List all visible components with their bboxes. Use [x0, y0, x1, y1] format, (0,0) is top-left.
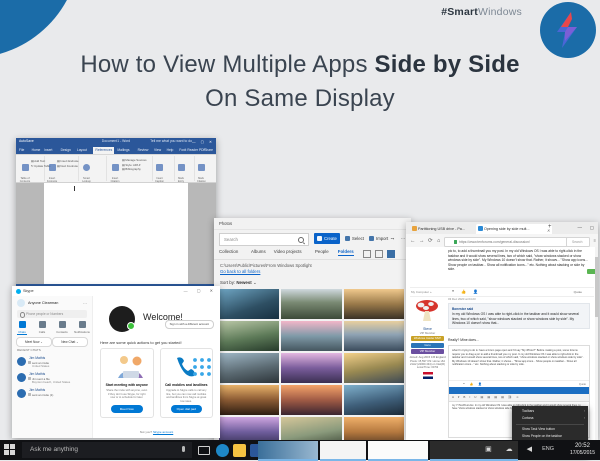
photo-thumbnail[interactable]	[344, 385, 404, 415]
post-quote-button[interactable]: Quote	[574, 290, 582, 294]
select-icon	[345, 236, 350, 241]
skype-window[interactable]: Skype — ▢ ✕ Anyone Clearman ⋯ Phone peop…	[12, 286, 220, 438]
word-ribbon-tab-layout[interactable]: Layout	[77, 148, 87, 152]
avatar	[17, 373, 26, 382]
search-placeholder: Ask me anything	[30, 446, 78, 453]
phone-icon	[39, 321, 46, 328]
word-window-buttons[interactable]: — ▢ ✕	[192, 140, 214, 144]
lightning-bolt-icon	[551, 11, 583, 49]
new-chat-label: New Chat	[61, 340, 75, 344]
edge-icon[interactable]	[216, 444, 229, 457]
windows-start-icon[interactable]	[4, 444, 16, 456]
context-menu-item-label: Show People on the taskbar	[522, 434, 562, 438]
nested-toolbar-icons[interactable]: A ▾ B I U ▤ ▤ ▤ ▤ ⛓ ☺	[452, 395, 521, 399]
photo-thumbnail[interactable]	[281, 289, 341, 319]
photo-thumbnail[interactable]	[344, 289, 404, 319]
photos-titlebar[interactable]: Photos	[214, 218, 411, 230]
footer-link[interactable]: Skype account	[153, 430, 173, 434]
word-ribbon-tab-references[interactable]: References	[93, 147, 114, 154]
context-menu-item-label: Show Task View button	[522, 427, 555, 431]
word-document-area[interactable]	[16, 183, 216, 284]
avatar	[17, 357, 26, 366]
search-input[interactable]: Ask me anything	[22, 442, 192, 458]
taskbar-open-window[interactable]	[258, 441, 318, 461]
card-dial-pad-title: Call mobiles and landlines	[165, 383, 209, 387]
skype-title-label: Skype	[23, 289, 34, 293]
plus-icon[interactable]: +	[548, 224, 552, 230]
browser-tab-1[interactable]: Partitioning USB drive - Pa... ✕	[410, 224, 482, 235]
word-ribbon-tab-review[interactable]: Review	[138, 148, 149, 152]
dial-pad-illustration	[161, 354, 221, 380]
search-input[interactable]: Search	[219, 233, 309, 246]
share-icon: ⤳	[391, 236, 394, 241]
quote-author[interactable]: Bonestor said	[452, 307, 586, 311]
skype-profile-row[interactable]: Anyone Clearman ⋯	[12, 296, 92, 309]
switch-account-button[interactable]: Sign in with a different account	[165, 320, 214, 329]
list-view-icon[interactable]	[363, 250, 371, 258]
message-icon	[28, 377, 31, 380]
skype-tab-label: Contacts	[52, 330, 72, 334]
card-meet-now-title: Start meeting with anyone	[105, 383, 149, 387]
photos-tab-video-projects[interactable]: Video projects	[274, 249, 302, 254]
skype-search-placeholder: Phone people or Numbers	[26, 312, 63, 316]
photo-thumbnail[interactable]	[344, 353, 404, 383]
chat-line2: Boynton beach, United States	[32, 380, 70, 384]
create-button[interactable]: Create	[314, 233, 340, 244]
photo-thumbnail[interactable]	[219, 385, 279, 415]
photo-grid[interactable]	[219, 289, 404, 440]
sort-control[interactable]: Sort by: Newest ⌄	[220, 280, 257, 286]
browser-tab-1-title: Partitioning USB drive - Pa...	[418, 227, 465, 231]
skype-footer: Not you? Skype account	[93, 430, 220, 434]
reload-icon[interactable]: ⟳	[428, 238, 433, 244]
word-ribbon-tab-mailings[interactable]: Mailings	[117, 148, 129, 152]
photos-tab-people[interactable]: People	[315, 249, 329, 254]
file-explorer-icon[interactable]	[233, 444, 246, 457]
title-line2: On Same Display	[0, 84, 600, 114]
go-back-link[interactable]: Go back to all folders	[220, 269, 260, 274]
chat-list[interactable]: Jim Mathissent an inviteUnited StatesJim…	[12, 354, 92, 438]
tile-view-icon[interactable]	[387, 250, 395, 258]
clock[interactable]: 20:52 17/05/2015	[570, 443, 595, 457]
word-share-button[interactable]: Share	[204, 148, 213, 152]
chat-name: Jim Mathis	[29, 356, 45, 360]
list-item[interactable]: Jim Mathissent an invite (1)	[12, 386, 92, 402]
skype-tab-label: Calls	[32, 330, 52, 334]
skype-tab-contacts[interactable]: Contacts	[52, 321, 72, 334]
post-signature[interactable]: My Computer »	[411, 290, 432, 294]
chat-icon	[19, 321, 26, 328]
page-title: How to View Multiple Apps Side by Side O…	[0, 50, 600, 114]
photo-thumbnail[interactable]	[219, 353, 279, 383]
context-menu-item-show-people-on-the-taskbar[interactable]: Show People on the taskbar	[512, 433, 588, 440]
profile-avatar-large[interactable]	[109, 306, 135, 332]
word-titlebar[interactable]: AutoSave Document1 - Word Tell me what y…	[16, 138, 216, 147]
brand-tagline: #SmartWindows	[441, 6, 522, 18]
chevron-right-icon: ›	[584, 408, 585, 415]
list-item[interactable]: Jim Mathissent an inviteUnited States	[12, 354, 92, 370]
context-menu-item-cortana[interactable]: Cortana›	[512, 415, 588, 422]
avatar	[17, 389, 26, 398]
card-meet-now-desc: Share the invite with anyone, even if th…	[106, 389, 148, 400]
clock-date: 17/05/2015	[570, 450, 595, 457]
welcome-subtitle: Here are some quick actions to get you s…	[100, 340, 182, 345]
browser-tab-2[interactable]: Opening side by side mult... ✕	[476, 224, 552, 235]
share-button[interactable]: ⤳	[388, 233, 397, 244]
title-line1-bold: Side by Side	[375, 51, 520, 78]
chat-name: Jim Mathis	[29, 388, 45, 392]
card-dial-pad-button[interactable]: Open dial pad	[171, 405, 203, 413]
page-header: #SmartWindows How to View Multiple Apps …	[0, 0, 600, 132]
message-icon	[28, 361, 31, 364]
skype-search-input[interactable]: Phone people or Numbers	[17, 310, 87, 318]
word-document-title: Document1 - Word	[102, 139, 130, 143]
chat-line2: United States	[32, 364, 49, 368]
tray-icons[interactable]: ▣ ☁ ◀	[485, 445, 538, 453]
title-line1-normal: How to View Multiple Apps	[80, 51, 374, 78]
post-body-text: pic to, to add a thumbnail you my post. …	[448, 249, 592, 272]
browser-search-placeholder: Search	[572, 240, 582, 244]
skype-tabs[interactable]: ChatsCallsContactsNotifications	[12, 321, 92, 335]
meet-now-button[interactable]: Meet Now ⌄	[16, 337, 52, 347]
user-badge-2: Guru	[411, 343, 444, 348]
post-user-meta: Joined: Aug 2015 3-B England Posts: 15,5…	[409, 356, 446, 370]
skype-tab-label: Notifications	[72, 330, 92, 334]
people-meeting-illustration	[101, 354, 161, 380]
word-group-toc[interactable]: Table ofContents ▤ Add Text ↻ Update Tab…	[18, 156, 45, 181]
online-status-icon	[127, 322, 135, 330]
post-user-sidebar: Steve VIP Member Windows Insider MVP Gur…	[409, 299, 446, 379]
import-button-label: Import	[376, 236, 388, 241]
word-ribbon-tab-design[interactable]: Design	[61, 148, 71, 152]
word-group-footnotes[interactable]: InsertFootnote ▤ Insert Endnote ▤ Next F…	[46, 156, 79, 181]
photos-toolbar[interactable]: Search Create Select Import ⤳ ⋯	[214, 230, 411, 247]
word-autosave-label: AutoSave	[19, 139, 34, 143]
skype-profile-name: Anyone Clearman	[28, 301, 58, 305]
nested-selected-bar	[449, 387, 589, 394]
photos-tabs[interactable]: CollectionAlbumsVideo projectsPeopleFold…	[214, 247, 411, 260]
card-meet-now[interactable]: Start meeting with anyone Share the invi…	[100, 348, 154, 418]
word-group-citations[interactable]: InsertCitation ▤ Manage Sources ▤ Style:…	[108, 156, 153, 181]
message-icon	[28, 393, 31, 396]
padlock-icon	[454, 240, 457, 244]
nested-action-bar[interactable]: ❝ 👍 👤 Quote	[449, 380, 589, 387]
brand-rest: Windows	[478, 6, 522, 18]
favicon-icon	[478, 226, 483, 231]
url-text: https://www.tenforums.com/general-discus…	[459, 240, 530, 244]
photo-thumbnail[interactable]	[219, 289, 279, 319]
photo-thumbnail[interactable]	[281, 385, 341, 415]
footer-prefix: Not you?	[140, 430, 153, 434]
skype-window-buttons[interactable]: — ▢ ✕	[184, 288, 217, 293]
card-dial-pad-desc: Upgrade to Skype calls to call any line,…	[166, 389, 208, 403]
photos-tab-collection[interactable]: Collection	[219, 249, 238, 254]
photos-title-label: Photos	[219, 221, 232, 226]
sort-value: Newest	[236, 280, 251, 285]
new-chat-button[interactable]: New Chat ⌄	[52, 337, 88, 347]
sort-label: Sort by:	[220, 280, 235, 285]
word-ribbon-tab-home[interactable]: Home	[32, 148, 41, 152]
avatar	[412, 299, 443, 321]
photos-tab-folders[interactable]: Folders	[338, 249, 354, 254]
recent-chats-label: RECENT CHATS	[17, 348, 41, 352]
skype-icon	[16, 289, 21, 294]
context-menu-item-label: Cortana	[522, 416, 533, 420]
nested-quote-button[interactable]: Quote	[579, 383, 586, 386]
contacts-icon	[59, 321, 66, 328]
minimize-icon[interactable]: —	[578, 225, 583, 230]
grid-view-icon[interactable]	[375, 250, 383, 258]
create-button-label: Create	[324, 236, 337, 241]
word-tellme-box[interactable]: Tell me what you want to do	[150, 139, 192, 143]
photos-window[interactable]: Photos Search Create Select Import ⤳ ⋯ C…	[214, 218, 411, 440]
avatar[interactable]	[17, 299, 25, 307]
word-group-index[interactable]: MarkEntry InsertIndex	[176, 156, 195, 181]
word-ribbon-tab-help[interactable]: Help	[167, 148, 174, 152]
word-ribbon-tab-file[interactable]: File	[19, 148, 24, 152]
browser-tab-2-title: Opening side by side mult...	[484, 227, 530, 231]
photo-thumbnail[interactable]	[281, 353, 341, 383]
more-dots-icon: ⋯	[401, 236, 405, 241]
quick-action-cards[interactable]: Start meeting with anyone Share the invi…	[100, 348, 213, 418]
menu-icon[interactable]: ≡	[594, 238, 596, 243]
word-window[interactable]: AutoSave Document1 - Word Tell me what y…	[16, 138, 216, 290]
folder-path: C:\Users\Public\Pictures\From Windows Sp…	[220, 263, 312, 268]
language-indicator[interactable]: ENG	[542, 446, 554, 452]
photo-thumbnail[interactable]	[219, 417, 279, 440]
word-ribbon-tab-insert[interactable]: Insert	[44, 148, 52, 152]
browser-scrollbar[interactable]	[595, 247, 598, 440]
search-icon	[298, 237, 304, 243]
reply-text: Really? Mine does...	[448, 338, 479, 342]
select-button[interactable]: Select	[342, 233, 367, 244]
card-dial-pad[interactable]: Call mobiles and landlines Upgrade to Sk…	[160, 348, 214, 418]
forward-arrow-icon[interactable]: →	[419, 238, 425, 244]
microphone-icon[interactable]	[182, 446, 185, 452]
windows-taskbar[interactable]: Ask me anything ▣ ☁ ◀ ENG 20:52 17/05/20…	[0, 440, 600, 460]
country-flag-icon	[423, 372, 433, 379]
quote-block: Bonestor said In my old Windows OS I was…	[448, 303, 590, 329]
post-timestamp: 03 Dec 2020 at 04:23	[448, 297, 476, 301]
context-menu-item-label: Toolbars	[522, 409, 534, 413]
skype-tab-calls[interactable]: Calls	[32, 321, 52, 334]
photo-thumbnail[interactable]	[344, 417, 404, 440]
word-ribbon-tabs[interactable]: FileHomeInsertDesignLayoutReferencesMail…	[16, 147, 216, 155]
browser-search-input[interactable]: Search	[566, 237, 590, 247]
taskbar-open-window[interactable]	[320, 441, 366, 461]
photo-thumbnail[interactable]	[281, 321, 341, 351]
nested-post-text: what I'm trying to do is: have a forum p…	[449, 346, 589, 370]
photos-tab-albums[interactable]: Albums	[251, 249, 266, 254]
word-group-authorities[interactable]: MarkCitation InsertTable	[196, 156, 215, 181]
user-badge-1: Windows Insider MVP	[411, 336, 444, 341]
user-badge-3: VIP Member	[411, 349, 444, 354]
search-icon	[20, 312, 25, 317]
post-reaction-icons[interactable]: ❝ 👍 👤	[452, 289, 481, 294]
nested-toolbar[interactable]: A ▾ B I U ▤ ▤ ▤ ▤ ⛓ ☺	[449, 394, 589, 402]
word-text-cursor	[74, 186, 75, 191]
word-group-captions[interactable]: InsertCaption Cross-ref	[154, 156, 175, 181]
chat-line1: sent an invite (1)	[32, 393, 53, 397]
list-item[interactable]: Jim MathisJim sent a fileBoynton beach, …	[12, 370, 92, 386]
post-user-role: VIP Member	[409, 331, 446, 335]
post-action-bar[interactable]: My Computer » ❝ 👍 👤 Quote	[410, 287, 594, 297]
browser-navbar[interactable]: ← → ⟳ ⌂ https://www.tenforums.com/genera…	[406, 234, 598, 248]
back-arrow-icon[interactable]: ←	[410, 238, 416, 244]
skype-main-panel[interactable]: Welcome! Sign in with a different accoun…	[93, 296, 220, 438]
menu-separator	[516, 424, 584, 425]
brand-hash: #Smart	[441, 6, 478, 18]
favicon-icon	[412, 226, 417, 231]
word-ribbon[interactable]: Table ofContents ▤ Add Text ↻ Update Tab…	[16, 155, 216, 183]
search-placeholder: Search	[224, 237, 238, 242]
photo-thumbnail[interactable]	[344, 321, 404, 351]
nested-reaction-icons[interactable]: ❝ 👍 👤	[463, 382, 484, 386]
word-ribbon-tab-foxit-reader-pdf[interactable]: Foxit Reader PDF	[179, 148, 205, 152]
browser-tabbar[interactable]: Partitioning USB drive - Pa... ✕ Opening…	[406, 222, 598, 234]
import-icon	[369, 236, 374, 241]
photo-thumbnail[interactable]	[219, 321, 279, 351]
word-group-research[interactable]: SmartLookup Researcher	[80, 156, 107, 181]
task-view-icon[interactable]	[198, 446, 210, 455]
chevron-down-icon: ⌄	[253, 280, 257, 285]
word-ribbon-tab-view[interactable]: View	[154, 148, 161, 152]
skype-tab-notifications[interactable]: Notifications	[72, 321, 92, 334]
clock-time: 20:52	[570, 443, 595, 450]
skype-tab-chats[interactable]: Chats	[12, 321, 32, 334]
url-bar[interactable]: https://www.tenforums.com/general-discus…	[444, 237, 568, 247]
create-icon	[317, 236, 322, 241]
photo-thumbnail[interactable]	[281, 417, 341, 440]
word-page[interactable]	[44, 183, 188, 284]
skype-actions[interactable]: Meet Now ⌄ New Chat ⌄	[16, 337, 88, 345]
chat-name: Jim Mathis	[29, 372, 45, 376]
bell-icon	[79, 321, 86, 328]
select-button-label: Select	[352, 236, 364, 241]
skype-tab-label: Chats	[12, 330, 32, 334]
meet-now-label: Meet Now	[25, 340, 39, 344]
more-dots-icon[interactable]: ⋯	[83, 301, 87, 306]
card-meet-now-button[interactable]: Meet Now	[111, 405, 143, 413]
skype-sidebar[interactable]: Anyone Clearman ⋯ Phone people or Number…	[12, 296, 93, 438]
context-menu-item-show-task-view-button[interactable]: Show Task View button	[512, 426, 588, 433]
close-icon[interactable]: ▢	[590, 225, 594, 231]
home-icon[interactable]: ⌂	[437, 238, 440, 244]
context-menu-item-toolbars[interactable]: Toolbars›	[512, 408, 588, 415]
quote-text: In my old Windows OS I was able to right…	[452, 312, 586, 326]
taskbar-open-window[interactable]	[368, 441, 428, 461]
chevron-right-icon: ›	[584, 415, 585, 422]
